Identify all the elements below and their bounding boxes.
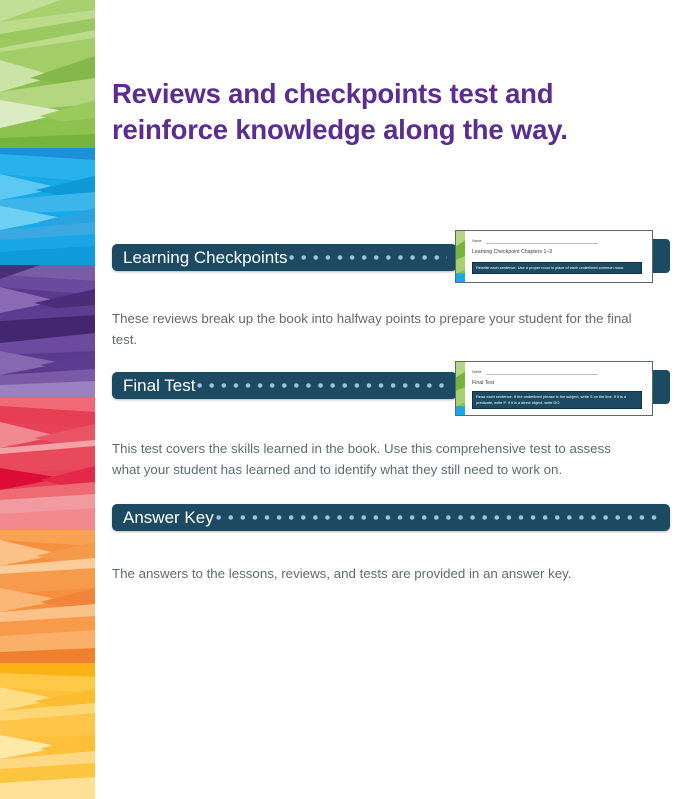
dot-leader (288, 244, 447, 271)
worksheet-instruction: Rewrite each sentence. Use a proper noun… (472, 262, 642, 274)
page-title: Reviews and checkpoints test and reinfor… (112, 76, 652, 148)
worksheet-thumbnail-learning-checkpoint: Name Learning Checkpoint Chapters 1–3 Re… (455, 230, 670, 285)
stripe-band-orange (0, 530, 95, 663)
worksheet-name-label: Name (472, 370, 482, 374)
section-bar-final-test: Final Test (112, 372, 457, 399)
worksheet-name-rule (486, 374, 598, 375)
worksheet-edge-stripe (456, 362, 465, 415)
dot-leader (215, 504, 660, 531)
stripe-band-red (0, 398, 95, 530)
worksheet-card: Name Learning Checkpoint Chapters 1–3 Re… (455, 230, 653, 283)
worksheet-card: Name Final Test Read each sentence. If t… (455, 361, 653, 416)
decorative-color-stripe (0, 0, 95, 799)
stripe-band-yellow (0, 663, 95, 799)
stripe-band-purple (0, 265, 95, 398)
section-paragraph-answer-key: The answers to the lessons, reviews, and… (112, 563, 632, 584)
worksheet-thumbnail-final-test: Name Final Test Read each sentence. If t… (455, 361, 670, 418)
section-label: Answer Key (112, 504, 214, 531)
worksheet-name-label: Name (472, 239, 482, 243)
section-bar-learning-checkpoints: Learning Checkpoints (112, 244, 457, 271)
worksheet-title: Learning Checkpoint Chapters 1–3 (472, 249, 552, 255)
worksheet-title: Final Test (472, 380, 494, 386)
stripe-band-green (0, 0, 95, 148)
worksheet-edge-stripe (456, 231, 465, 282)
page-root: Reviews and checkpoints test and reinfor… (0, 0, 700, 799)
worksheet-instruction: Read each sentence. If the underlined ph… (472, 391, 642, 409)
dot-leader (196, 372, 447, 399)
section-paragraph-learning-checkpoints: These reviews break up the book into hal… (112, 308, 632, 350)
worksheet-name-rule (486, 243, 598, 244)
section-bar-answer-key: Answer Key (112, 504, 670, 531)
section-label: Final Test (112, 372, 195, 399)
stripe-band-blue (0, 148, 95, 265)
section-paragraph-final-test: This test covers the skills learned in t… (112, 438, 632, 480)
section-label: Learning Checkpoints (112, 244, 287, 271)
